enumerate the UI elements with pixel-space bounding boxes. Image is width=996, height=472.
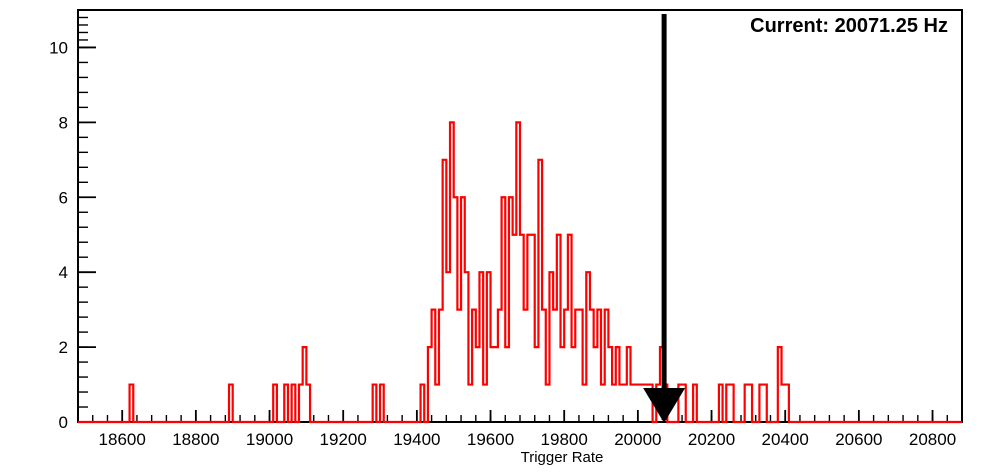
y-tick-label: 4	[59, 263, 68, 282]
x-tick-label: 19800	[541, 430, 588, 449]
x-tick-label: 20600	[835, 430, 882, 449]
x-tick-label: 19400	[393, 430, 440, 449]
x-axis-tick-labels: 1860018800190001920019400196001980020000…	[99, 430, 957, 449]
histogram-series	[78, 122, 962, 422]
x-tick-label: 19200	[320, 430, 367, 449]
x-tick-label: 20000	[614, 430, 661, 449]
y-tick-label: 10	[49, 38, 68, 57]
x-tick-label: 18800	[172, 430, 219, 449]
x-tick-label: 18600	[99, 430, 146, 449]
x-axis-title: Trigger Rate	[521, 449, 604, 466]
y-tick-label: 8	[59, 113, 68, 132]
y-axis-major-ticks	[78, 47, 96, 422]
y-axis-tick-labels: 0246810	[49, 38, 68, 432]
current-rate-label: Current: 20071.25 Hz	[750, 15, 948, 37]
y-axis-minor-ticks	[78, 17, 88, 407]
x-tick-label: 20400	[762, 430, 809, 449]
current-rate-arrow	[643, 14, 685, 423]
y-tick-label: 6	[59, 188, 68, 207]
root-histogram-canvas: 1860018800190001920019400196001980020000…	[0, 0, 996, 472]
x-tick-label: 19000	[246, 430, 293, 449]
histogram-plot: 1860018800190001920019400196001980020000…	[0, 0, 996, 472]
y-tick-label: 2	[59, 338, 68, 357]
x-tick-label: 19600	[467, 430, 514, 449]
x-axis-major-ticks	[122, 410, 932, 422]
x-tick-label: 20800	[909, 430, 956, 449]
y-tick-label: 0	[59, 413, 68, 432]
x-tick-label: 20200	[688, 430, 735, 449]
